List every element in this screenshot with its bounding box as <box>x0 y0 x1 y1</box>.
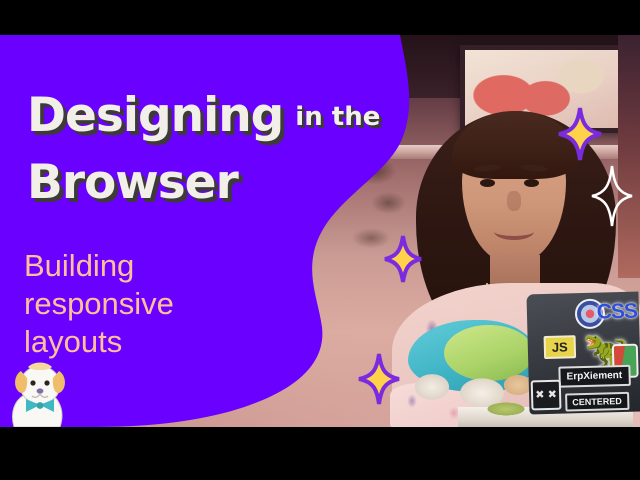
sparkle-midleft-icon <box>384 235 422 283</box>
nose <box>507 191 521 211</box>
video-frame: CSS JS 🦖 ErpXiement CENTERED ✖ ✖ <box>0 35 640 427</box>
title-word-designing: Designing <box>27 88 283 143</box>
sticker-floppy-disk-icon: ✖ ✖ <box>531 380 562 411</box>
sticker-experiment: ErpXiement <box>558 365 630 388</box>
eye-left <box>480 179 495 187</box>
video-thumbnail: CSS JS 🦖 ErpXiement CENTERED ✖ ✖ <box>0 0 640 480</box>
sparkle-lower-icon <box>358 353 400 405</box>
sparkle-artwork-icon <box>558 107 602 161</box>
sticker-js: JS <box>544 335 576 359</box>
sparkle-right-outline-icon <box>591 165 633 227</box>
subtitle: Building responsive layouts <box>24 247 174 360</box>
top-letterbox-bar <box>0 0 640 35</box>
food-tray <box>478 399 534 419</box>
sticker-centered: CENTERED <box>565 392 629 412</box>
subtitle-line-one: Building responsive <box>24 247 174 323</box>
mouth-smile <box>494 223 534 240</box>
eye-right <box>524 179 539 187</box>
sticker-css: CSS <box>596 300 637 325</box>
dog-mascot-logo <box>4 355 78 427</box>
bottom-letterbox-bar <box>0 427 640 480</box>
laptop-lid: CSS JS 🦖 ErpXiement CENTERED ✖ ✖ <box>526 292 640 415</box>
title-line-two: Browser <box>27 155 238 210</box>
title-line-one: Designingin the <box>27 88 380 143</box>
title-word-in-the: in the <box>295 102 380 132</box>
